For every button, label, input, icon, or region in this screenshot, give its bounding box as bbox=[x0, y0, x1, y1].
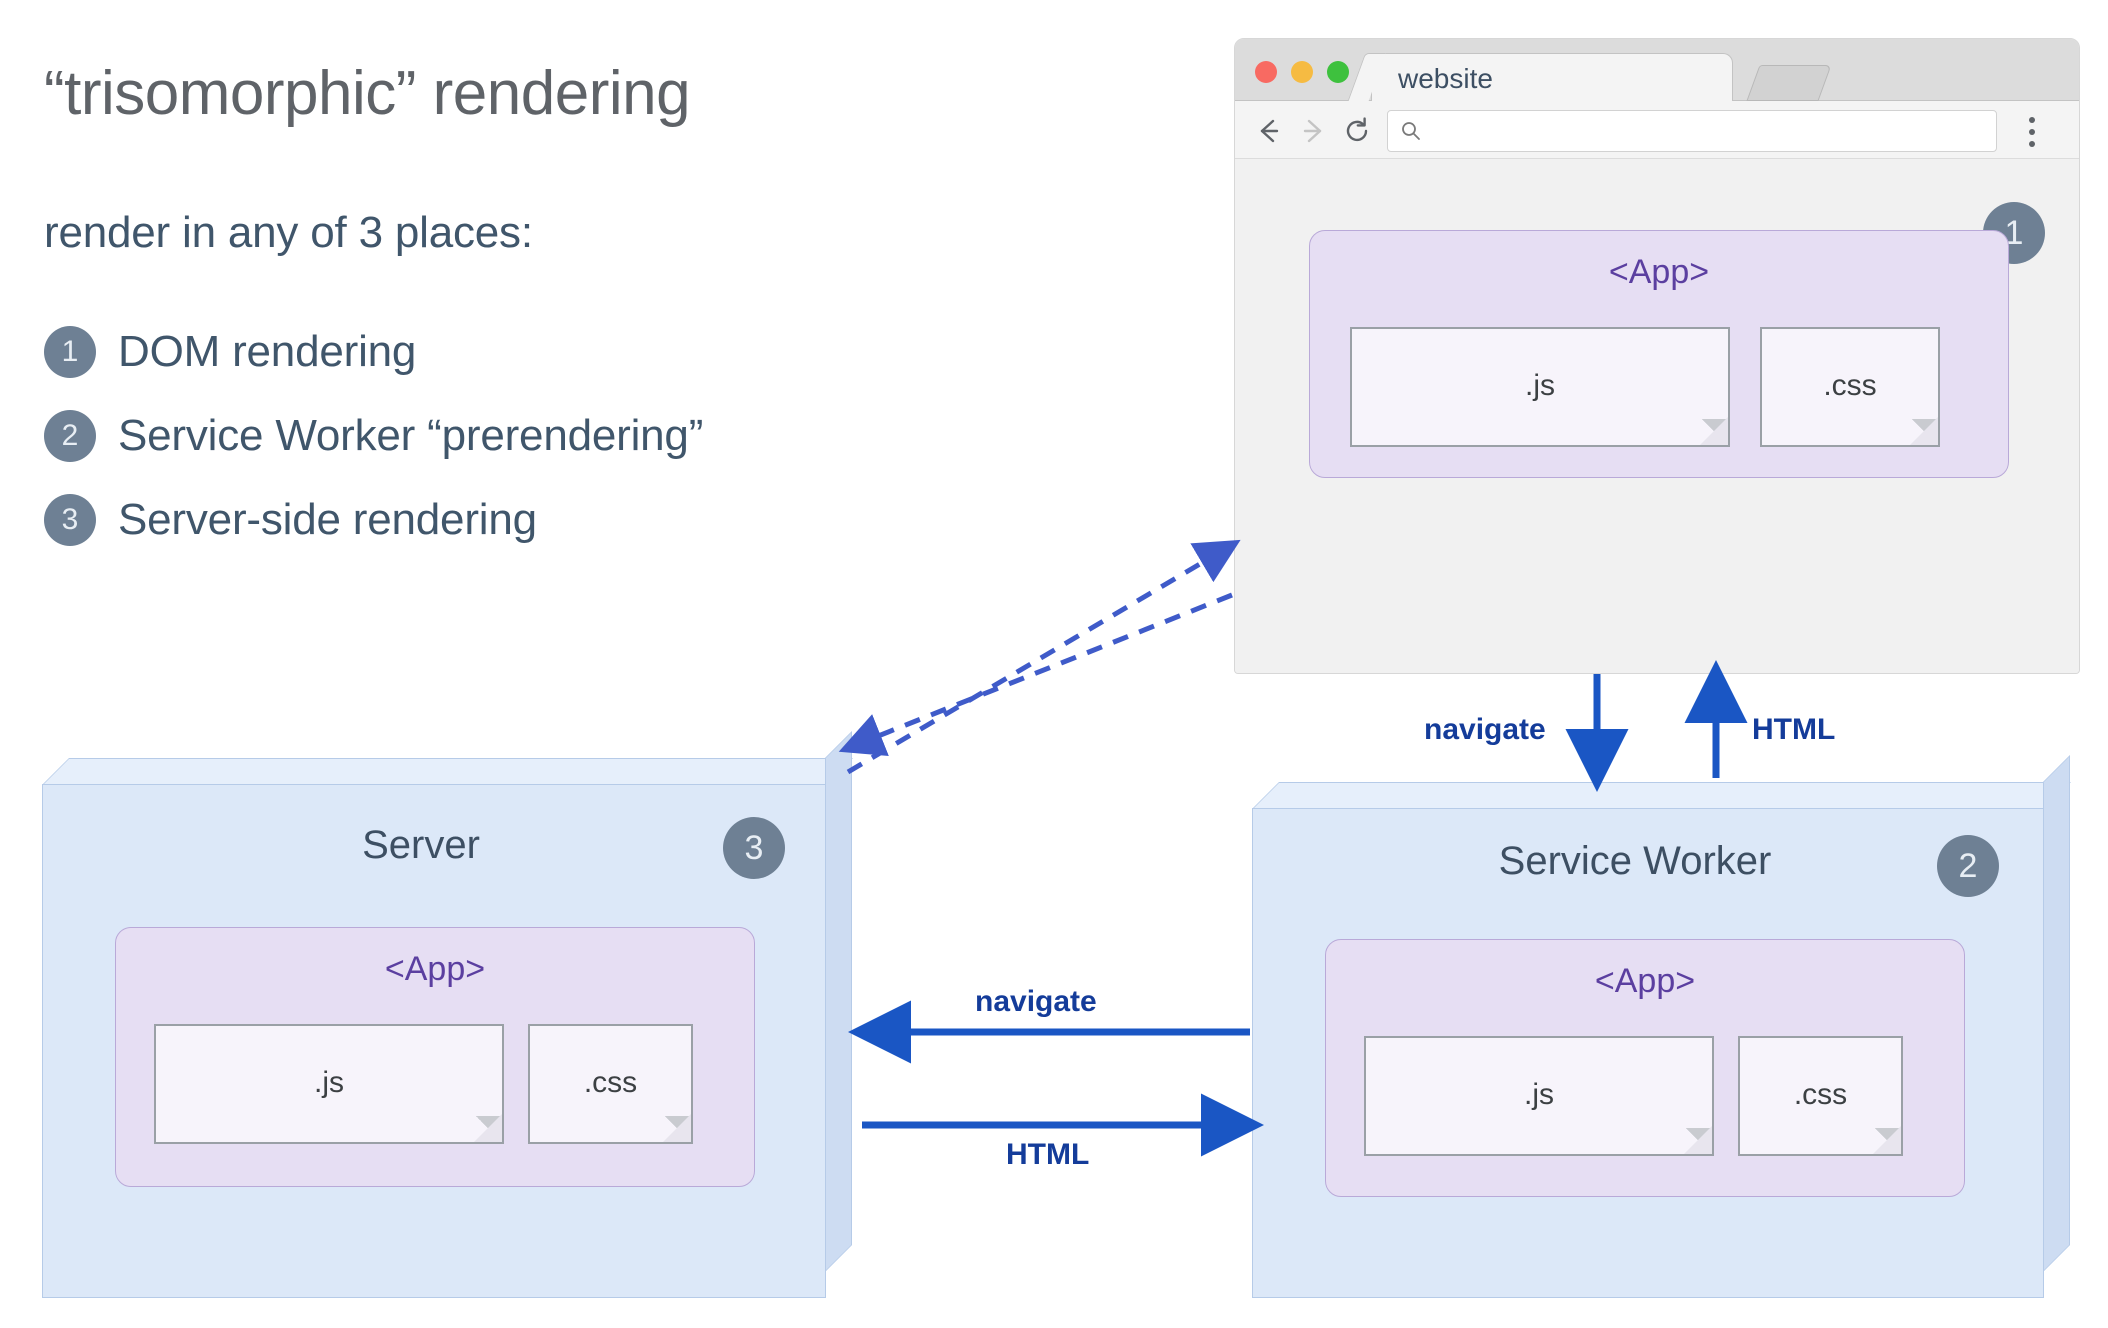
render-places-list: 1 DOM rendering 2 Service Worker “preren… bbox=[44, 310, 1044, 562]
list-item: 3 Server-side rendering bbox=[44, 478, 1044, 562]
page-title: “trisomorphic” rendering bbox=[44, 58, 944, 129]
label-html-sw-browser: HTML bbox=[1752, 713, 1835, 747]
service-worker-file-js: .js bbox=[1364, 1036, 1714, 1156]
browser-app-title: <App> bbox=[1310, 253, 2008, 292]
browser-window: website bbox=[1234, 38, 2080, 674]
service-worker-app-title: <App> bbox=[1326, 962, 1964, 1001]
list-item: 1 DOM rendering bbox=[44, 310, 1044, 394]
arrow-dashed-browser-to-server bbox=[848, 595, 1232, 748]
browser-viewport: 1 <App> .js .css bbox=[1235, 160, 2079, 674]
label-navigate-browser-sw: navigate bbox=[1424, 713, 1546, 747]
browser-tab[interactable]: website bbox=[1371, 53, 1733, 102]
list-item-badge-1: 1 bbox=[44, 326, 96, 378]
browser-file-css: .css bbox=[1760, 327, 1940, 447]
server-file-css: .css bbox=[528, 1024, 693, 1144]
page-fold-icon bbox=[1702, 419, 1730, 447]
server-file-js: .js bbox=[154, 1024, 504, 1144]
back-arrow-icon[interactable] bbox=[1253, 115, 1285, 147]
server-box-top-face bbox=[42, 758, 853, 785]
service-worker-box-front-face: Service Worker 2 <App> .js .css bbox=[1252, 808, 2044, 1298]
reload-icon[interactable] bbox=[1341, 115, 1373, 147]
label-html-server-sw: HTML bbox=[1006, 1138, 1089, 1172]
service-worker-file-css-label: .css bbox=[1740, 1078, 1901, 1112]
server-app-box: <App> .js .css bbox=[115, 927, 755, 1187]
service-worker-box: Service Worker 2 <App> .js .css bbox=[1252, 782, 2070, 1298]
server-file-js-label: .js bbox=[156, 1066, 502, 1100]
list-item-badge-3: 3 bbox=[44, 494, 96, 546]
list-item-label-1: DOM rendering bbox=[118, 327, 416, 377]
label-navigate-sw-server: navigate bbox=[975, 985, 1097, 1019]
service-worker-box-top-face bbox=[1252, 782, 2071, 809]
service-worker-file-js-label: .js bbox=[1366, 1078, 1712, 1112]
browser-menu-icon[interactable] bbox=[2029, 117, 2037, 147]
server-title: Server bbox=[43, 823, 799, 868]
list-item-badge-2: 2 bbox=[44, 410, 96, 462]
new-tab-button[interactable] bbox=[1746, 65, 1831, 101]
page-subtitle: render in any of 3 places: bbox=[44, 208, 944, 258]
browser-file-js-label: .js bbox=[1352, 369, 1728, 403]
server-box-side-face bbox=[825, 731, 852, 1272]
menu-dot bbox=[2029, 141, 2035, 147]
menu-dot bbox=[2029, 129, 2035, 135]
search-icon bbox=[1400, 120, 1422, 147]
window-minimize-icon[interactable] bbox=[1291, 61, 1313, 83]
browser-app-box: <App> .js .css bbox=[1309, 230, 2009, 478]
server-file-css-label: .css bbox=[530, 1066, 691, 1100]
address-bar-input[interactable] bbox=[1387, 110, 1997, 152]
page-fold-icon bbox=[476, 1116, 504, 1144]
server-app-title: <App> bbox=[116, 950, 754, 989]
browser-file-css-label: .css bbox=[1762, 369, 1938, 403]
browser-tab-bar: website bbox=[1235, 39, 2079, 101]
service-worker-step-badge: 2 bbox=[1937, 835, 1999, 897]
service-worker-app-box: <App> .js .css bbox=[1325, 939, 1965, 1197]
service-worker-file-css: .css bbox=[1738, 1036, 1903, 1156]
menu-dot bbox=[2029, 117, 2035, 123]
arrow-dashed-server-to-browser bbox=[848, 545, 1232, 772]
server-step-badge: 3 bbox=[723, 817, 785, 879]
service-worker-title: Service Worker bbox=[1253, 839, 2017, 884]
server-box: Server 3 <App> .js .css bbox=[42, 758, 852, 1298]
server-box-front-face: Server 3 <App> .js .css bbox=[42, 784, 826, 1298]
service-worker-box-side-face bbox=[2043, 755, 2070, 1272]
list-item-label-2: Service Worker “prerendering” bbox=[118, 411, 703, 461]
list-item: 2 Service Worker “prerendering” bbox=[44, 394, 1044, 478]
page-fold-icon bbox=[1686, 1128, 1714, 1156]
list-item-label-3: Server-side rendering bbox=[118, 495, 537, 545]
page-fold-icon bbox=[1875, 1128, 1903, 1156]
page-fold-icon bbox=[1912, 419, 1940, 447]
browser-tab-label: website bbox=[1398, 63, 1493, 95]
forward-arrow-icon[interactable] bbox=[1297, 115, 1329, 147]
browser-toolbar bbox=[1235, 101, 2079, 159]
window-close-icon[interactable] bbox=[1255, 61, 1277, 83]
window-maximize-icon[interactable] bbox=[1327, 61, 1349, 83]
page-fold-icon bbox=[665, 1116, 693, 1144]
browser-file-js: .js bbox=[1350, 327, 1730, 447]
